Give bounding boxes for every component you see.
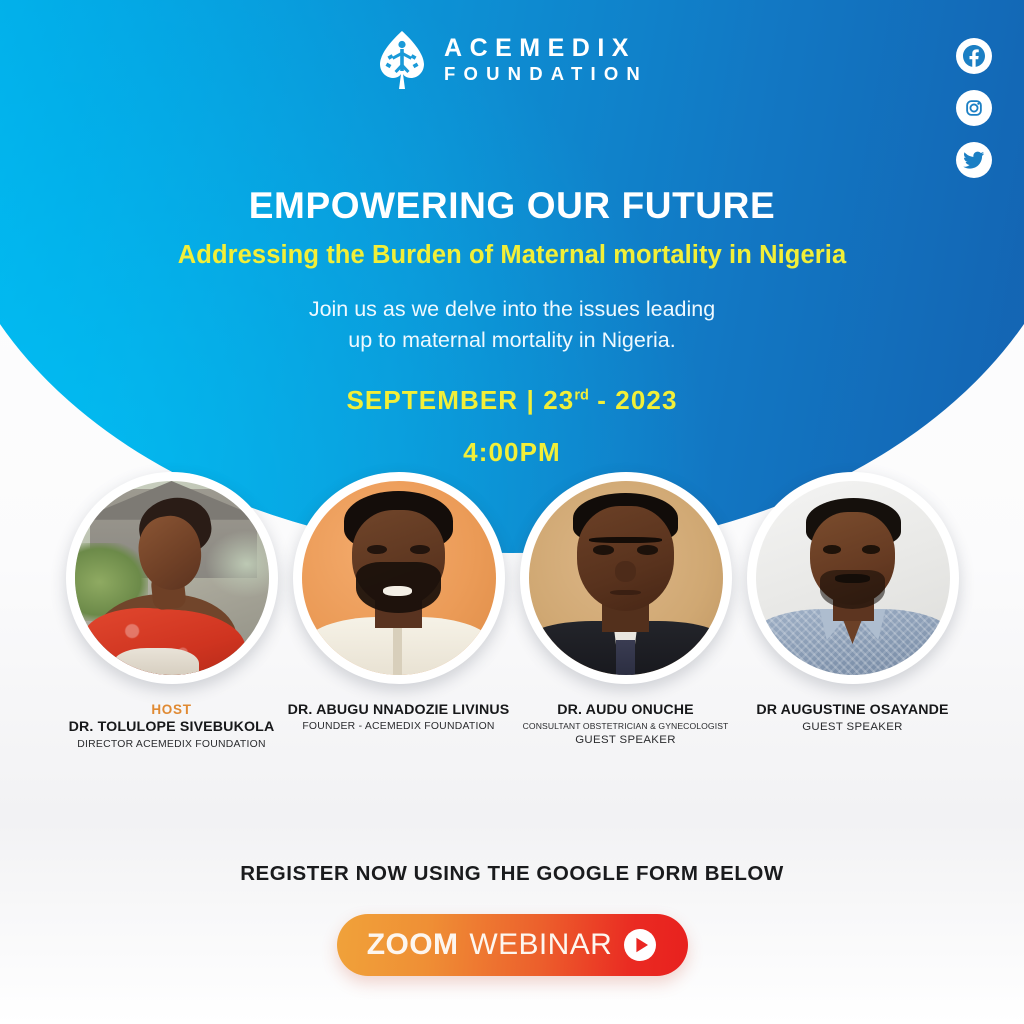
speaker-role: FOUNDER - ACEMEDIX FOUNDATION (288, 721, 510, 734)
brand-name-line2: FOUNDATION (444, 62, 648, 85)
speaker-caption: DR. AUDU ONUCHE CONSULTANT OBSTETRICIAN … (523, 702, 729, 748)
speaker-role-secondary: GUEST SPEAKER (523, 734, 729, 748)
event-subtitle: Addressing the Burden of Maternal mortal… (0, 241, 1024, 270)
event-date-ordinal: rd (574, 387, 589, 403)
instagram-icon[interactable] (956, 90, 992, 126)
event-time: 4:00PM (0, 437, 1024, 468)
event-date-suffix: - 2023 (589, 385, 678, 415)
social-links (956, 38, 992, 178)
speaker-badge: HOST (69, 702, 275, 718)
speaker-card: HOST DR. TOLULOPE SIVEBUKOLA DIRECTOR AC… (64, 472, 280, 751)
speakers-row: HOST DR. TOLULOPE SIVEBUKOLA DIRECTOR AC… (0, 472, 1024, 751)
event-description: Join us as we delve into the issues lead… (0, 294, 1024, 355)
brand-logo: ACEMEDIX FOUNDATION (0, 30, 1024, 90)
speaker-photo-2 (302, 481, 496, 675)
webinar-flyer: ACEMEDIX FOUNDATION EMPOWERING OUR FUTUR… (0, 0, 1024, 1024)
speaker-photo-1 (75, 481, 269, 675)
brand-name: ACEMEDIX FOUNDATION (444, 35, 648, 84)
event-title: EMPOWERING OUR FUTURE (0, 186, 1024, 227)
speaker-card: DR AUGUSTINE OSAYANDE GUEST SPEAKER (745, 472, 961, 735)
acemedix-spade-logo-icon (376, 30, 428, 90)
event-description-line2: up to maternal mortality in Nigeria. (0, 325, 1024, 356)
speaker-photo-3 (529, 481, 723, 675)
speaker-caption: HOST DR. TOLULOPE SIVEBUKOLA DIRECTOR AC… (69, 702, 275, 751)
speaker-name: DR. TOLULOPE SIVEBUKOLA (69, 719, 275, 736)
speaker-card: DR. ABUGU NNADOZIE LIVINUS FOUNDER - ACE… (291, 472, 507, 734)
speaker-role: CONSULTANT OBSTETRICIAN & GYNECOLOGIST (523, 721, 729, 731)
speaker-name: DR AUGUSTINE OSAYANDE (756, 702, 948, 719)
speaker-avatar (66, 472, 278, 684)
register-instruction: REGISTER NOW USING THE GOOGLE FORM BELOW (0, 862, 1024, 886)
event-description-line1: Join us as we delve into the issues lead… (0, 294, 1024, 325)
speaker-avatar (520, 472, 732, 684)
event-date-prefix: SEPTEMBER | 23 (346, 385, 574, 415)
speaker-name: DR. ABUGU NNADOZIE LIVINUS (288, 702, 510, 719)
twitter-icon[interactable] (956, 142, 992, 178)
brand-name-line1: ACEMEDIX (444, 35, 648, 61)
speaker-role: DIRECTOR ACEMEDIX FOUNDATION (69, 739, 275, 752)
zoom-webinar-button[interactable]: ZOOM WEBINAR (337, 914, 688, 976)
speaker-role: GUEST SPEAKER (756, 721, 948, 735)
facebook-icon[interactable] (956, 38, 992, 74)
speaker-caption: DR AUGUSTINE OSAYANDE GUEST SPEAKER (756, 702, 948, 735)
speaker-name: DR. AUDU ONUCHE (523, 702, 729, 719)
speaker-avatar (293, 472, 505, 684)
speaker-card: DR. AUDU ONUCHE CONSULTANT OBSTETRICIAN … (518, 472, 734, 748)
zoom-webinar-button-word1: ZOOM (367, 928, 459, 962)
play-circle-icon (623, 928, 657, 962)
cta-block: REGISTER NOW USING THE GOOGLE FORM BELOW… (0, 862, 1024, 976)
zoom-webinar-button-word2: WEBINAR (469, 928, 612, 962)
speaker-avatar (747, 472, 959, 684)
speaker-caption: DR. ABUGU NNADOZIE LIVINUS FOUNDER - ACE… (288, 702, 510, 734)
event-date: SEPTEMBER | 23rd - 2023 (0, 385, 1024, 416)
headline-block: EMPOWERING OUR FUTURE Addressing the Bur… (0, 186, 1024, 468)
speaker-photo-4 (756, 481, 950, 675)
